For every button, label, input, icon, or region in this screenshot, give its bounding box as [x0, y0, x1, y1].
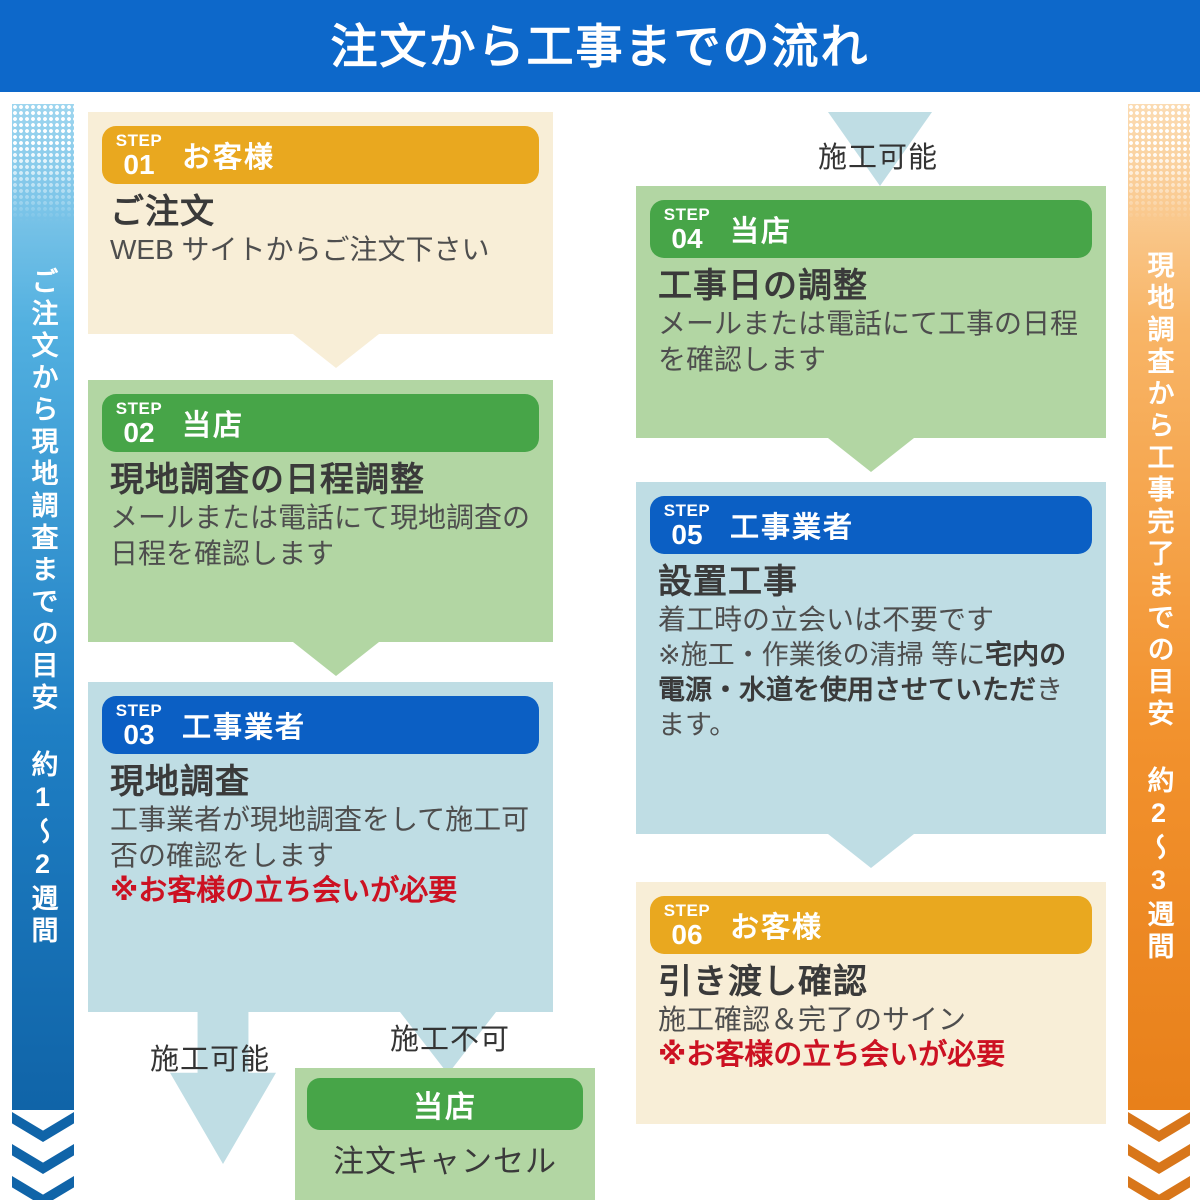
step-03-body: 現地調査 工事業者が現地調査をして施工可否の確認をします ※お客様の立ち会いが必… [88, 754, 553, 923]
chevron-down-icon [12, 1144, 74, 1174]
step-06-text: 施工確認＆完了のサイン [658, 1002, 1086, 1038]
flowchart-page: 注文から工事までの流れ ご注文から現地調査までの目安 約1〜2週間 現地調査から… [0, 0, 1200, 1200]
step-06-pill: STEP 06 お客様 [650, 896, 1092, 954]
step-03-actor: 工事業者 [182, 704, 306, 746]
step-number: 02 [123, 419, 154, 447]
step-card-02: STEP 02 当店 現地調査の日程調整 メールまたは電話にて現地調査の日程を確… [88, 380, 553, 642]
step-01-actor: お客様 [182, 134, 275, 176]
step-word: STEP [116, 702, 162, 719]
step-05-badge: STEP 05 [650, 502, 724, 549]
step-05-text: 着工時の立会いは不要です [658, 602, 1086, 638]
step-02-actor: 当店 [182, 402, 244, 444]
order-cancel-box: 当店 注文キャンセル [295, 1068, 595, 1200]
step-05-pill: STEP 05 工事業者 [650, 496, 1092, 554]
page-header: 注文から工事までの流れ [0, 0, 1200, 92]
cancel-box-text: 注文キャンセル [295, 1136, 595, 1181]
step-06-actor: お客様 [730, 904, 823, 946]
step-01-body: ご注文 WEB サイトからご注文下さい [88, 184, 553, 282]
connector-tail-02 [293, 642, 379, 676]
step-04-pill: STEP 04 当店 [650, 200, 1092, 258]
step-word: STEP [664, 206, 710, 223]
chevron-down-icon [1128, 1144, 1190, 1174]
step-02-badge: STEP 02 [102, 400, 176, 447]
step-word: STEP [116, 400, 162, 417]
step-04-heading: 工事日の調整 [658, 266, 1086, 306]
cancel-box-actor: 当店 [307, 1078, 583, 1130]
step-01-badge: STEP 01 [102, 132, 176, 179]
step-number: 03 [123, 721, 154, 749]
timeline-rail-left: ご注文から現地調査までの目安 約1〜2週間 [12, 104, 74, 1200]
timeline-rail-right: 現地調査から工事完了までの目安 約2〜3週間 [1128, 104, 1190, 1200]
branch-label-construction-possible-right: 施工可能 [818, 134, 938, 176]
step-06-warning: ※お客様の立ち会いが必要 [658, 1038, 1086, 1073]
step-number: 06 [671, 921, 702, 949]
step-02-pill: STEP 02 当店 [102, 394, 539, 452]
step-05-heading: 設置工事 [658, 562, 1086, 602]
step-04-badge: STEP 04 [650, 206, 724, 253]
step-05-actor: 工事業者 [730, 504, 854, 546]
rail-right-label: 現地調査から工事完了までの目安 約2〜3週間 [1128, 104, 1190, 1110]
branch-arrow-construction-possible [170, 1012, 276, 1164]
chevron-down-icon [1128, 1176, 1190, 1200]
step-03-warning: ※お客様の立ち会いが必要 [110, 874, 533, 909]
step-number: 01 [123, 151, 154, 179]
step-02-body: 現地調査の日程調整 メールまたは電話にて現地調査の日程を確認します [88, 452, 553, 586]
step-number: 04 [671, 225, 702, 253]
page-title: 注文から工事までの流れ [331, 23, 870, 70]
step-01-pill: STEP 01 お客様 [102, 126, 539, 184]
step-card-05: STEP 05 工事業者 設置工事 着工時の立会いは不要です ※施工・作業後の清… [636, 482, 1106, 834]
step-03-heading: 現地調査 [110, 762, 533, 802]
step-04-text: メールまたは電話にて工事の日程を確認します [658, 306, 1086, 378]
step-word: STEP [664, 902, 710, 919]
step-05-body: 設置工事 着工時の立会いは不要です ※施工・作業後の清掃 等に宅内の電源・水道を… [636, 554, 1106, 757]
branch-label-construction-not-possible: 施工不可 [390, 1016, 510, 1058]
step-card-04: STEP 04 当店 工事日の調整 メールまたは電話にて工事の日程を確認します [636, 186, 1106, 438]
rail-left-label: ご注文から現地調査までの目安 約1〜2週間 [12, 104, 74, 1110]
step-number: 05 [671, 521, 702, 549]
step-05-note-plain-1: ※施工・作業後の清掃 等に [658, 640, 985, 670]
step-03-badge: STEP 03 [102, 702, 176, 749]
step-02-text: メールまたは電話にて現地調査の日程を確認します [110, 500, 533, 572]
step-06-badge: STEP 06 [650, 902, 724, 949]
step-card-01: STEP 01 お客様 ご注文 WEB サイトからご注文下さい [88, 112, 553, 334]
step-word: STEP [116, 132, 162, 149]
step-05-note: ※施工・作業後の清掃 等に宅内の電源・水道を使用させていただきます。 [658, 638, 1086, 743]
chevron-down-icon [12, 1112, 74, 1142]
step-06-heading: 引き渡し確認 [658, 962, 1086, 1002]
step-04-body: 工事日の調整 メールまたは電話にて工事の日程を確認します [636, 258, 1106, 392]
step-word: STEP [664, 502, 710, 519]
branch-label-construction-possible: 施工可能 [150, 1036, 270, 1078]
step-03-pill: STEP 03 工事業者 [102, 696, 539, 754]
step-02-heading: 現地調査の日程調整 [110, 460, 533, 500]
connector-tail-04 [828, 438, 914, 472]
step-06-body: 引き渡し確認 施工確認＆完了のサイン ※お客様の立ち会いが必要 [636, 954, 1106, 1087]
step-04-actor: 当店 [730, 208, 792, 250]
step-01-text: WEB サイトからご注文下さい [110, 232, 533, 268]
step-01-heading: ご注文 [110, 192, 533, 232]
connector-tail-05 [828, 834, 914, 868]
step-03-text: 工事業者が現地調査をして施工可否の確認をします [110, 802, 533, 874]
chevron-down-icon [1128, 1112, 1190, 1142]
step-card-06: STEP 06 お客様 引き渡し確認 施工確認＆完了のサイン ※お客様の立ち会い… [636, 882, 1106, 1124]
connector-tail-01 [293, 334, 379, 368]
step-card-03: STEP 03 工事業者 現地調査 工事業者が現地調査をして施工可否の確認をしま… [88, 682, 553, 1012]
chevron-down-icon [12, 1176, 74, 1200]
